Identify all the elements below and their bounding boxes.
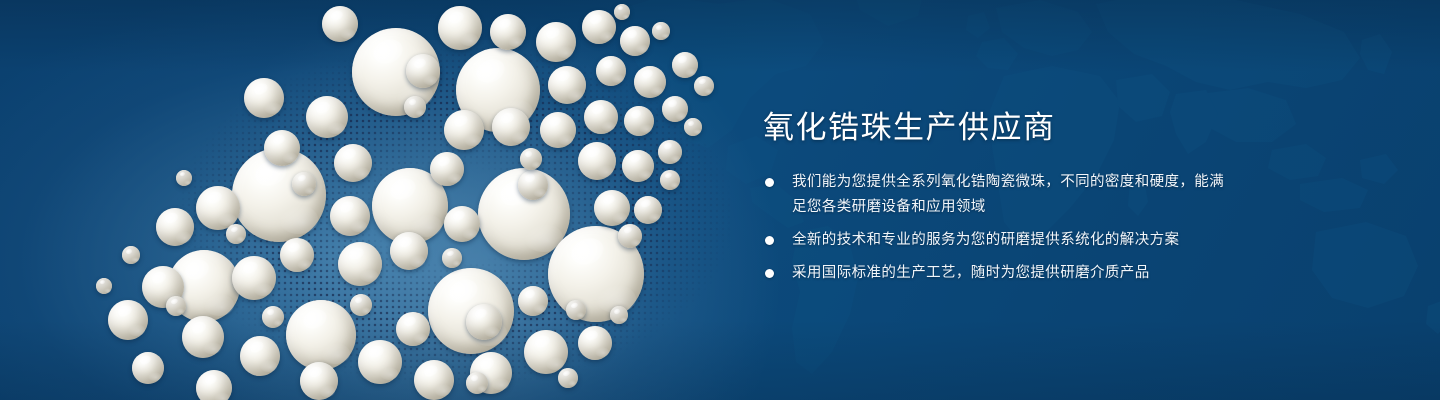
bullet-dot-icon <box>765 269 774 278</box>
list-item-label: 采用国际标准的生产工艺，随时为您提供研磨介质产品 <box>792 261 1233 286</box>
list-item: 采用国际标准的生产工艺，随时为您提供研磨介质产品 <box>763 261 1233 286</box>
bullet-dot-icon <box>765 236 774 245</box>
hero-banner: 氧化锆珠生产供应商 我们能为您提供全系列氧化锆陶瓷微珠，不同的密度和硬度，能满足… <box>0 0 1440 400</box>
list-item: 全新的技术和专业的服务为您的研磨提供系统化的解决方案 <box>763 228 1233 253</box>
banner-content: 氧化锆珠生产供应商 我们能为您提供全系列氧化锆陶瓷微珠，不同的密度和硬度，能满足… <box>763 108 1233 286</box>
list-item-label: 我们能为您提供全系列氧化锆陶瓷微珠，不同的密度和硬度，能满足您各类研磨设备和应用… <box>792 170 1233 220</box>
bullet-dot-icon <box>765 178 774 187</box>
list-item-label: 全新的技术和专业的服务为您的研磨提供系统化的解决方案 <box>792 228 1233 253</box>
feature-list: 我们能为您提供全系列氧化锆陶瓷微珠，不同的密度和硬度，能满足您各类研磨设备和应用… <box>763 170 1233 286</box>
page-title: 氧化锆珠生产供应商 <box>763 108 1233 148</box>
list-item: 我们能为您提供全系列氧化锆陶瓷微珠，不同的密度和硬度，能满足您各类研磨设备和应用… <box>763 170 1233 220</box>
